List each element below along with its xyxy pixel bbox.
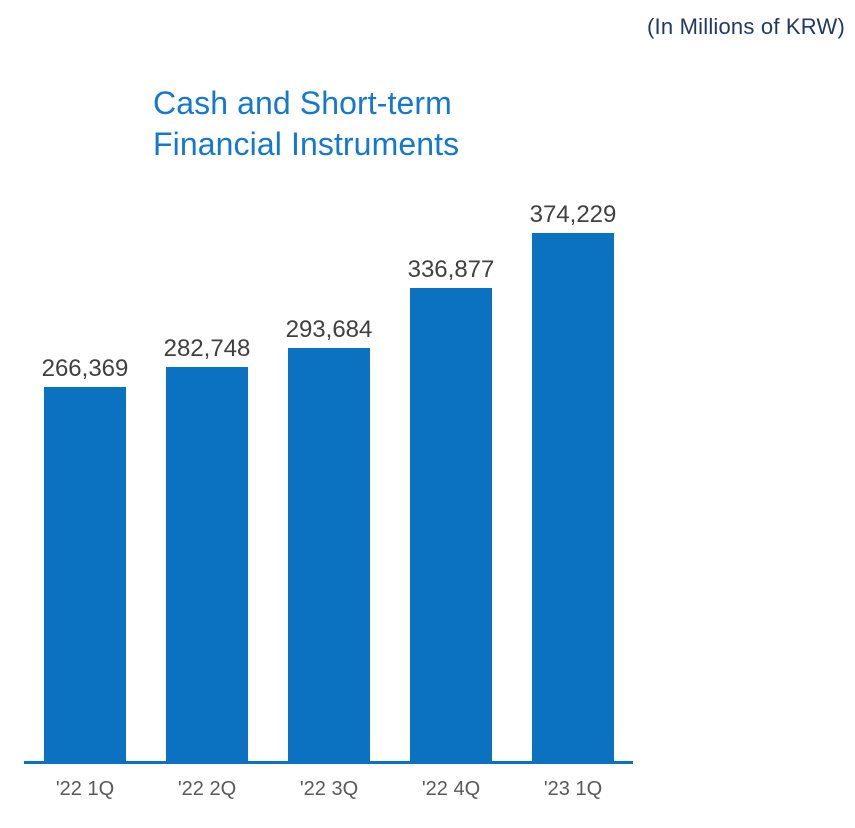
bar-band: 374,229 xyxy=(512,180,634,764)
category-label: '22 2Q xyxy=(146,776,268,802)
bar-band: 282,748 xyxy=(146,180,268,764)
category-label: '22 1Q xyxy=(24,776,146,802)
bar-band: 336,877 xyxy=(390,180,512,764)
bar-value-label: 336,877 xyxy=(390,256,512,284)
bar-value-label: 266,369 xyxy=(24,355,146,383)
chart-title-line-1: Cash and Short-term xyxy=(153,83,459,124)
bar-value-label: 374,229 xyxy=(512,201,634,229)
category-label: '23 1Q xyxy=(512,776,634,802)
bar[interactable] xyxy=(44,387,126,763)
bar[interactable] xyxy=(410,288,492,763)
bar-band: 266,369 xyxy=(24,180,146,764)
category-label: '22 4Q xyxy=(390,776,512,802)
category-axis-line xyxy=(24,761,633,764)
chart-plot-area: 266,369282,748293,684336,877374,229 xyxy=(24,180,634,764)
chart-title: Cash and Short-term Financial Instrument… xyxy=(153,83,459,165)
bar[interactable] xyxy=(166,367,248,763)
bar-value-label: 282,748 xyxy=(146,335,268,363)
bar-series: 266,369282,748293,684336,877374,229 xyxy=(24,180,634,764)
bar-value-label: 293,684 xyxy=(268,316,390,344)
category-axis-labels: '22 1Q'22 2Q'22 3Q'22 4Q'23 1Q xyxy=(24,776,634,802)
bar[interactable] xyxy=(532,233,614,763)
chart-slide: (In Millions of KRW) Cash and Short-term… xyxy=(0,0,855,828)
bar-band: 293,684 xyxy=(268,180,390,764)
bar[interactable] xyxy=(288,348,370,763)
units-note: (In Millions of KRW) xyxy=(647,13,845,41)
chart-title-line-2: Financial Instruments xyxy=(153,124,459,165)
category-label: '22 3Q xyxy=(268,776,390,802)
